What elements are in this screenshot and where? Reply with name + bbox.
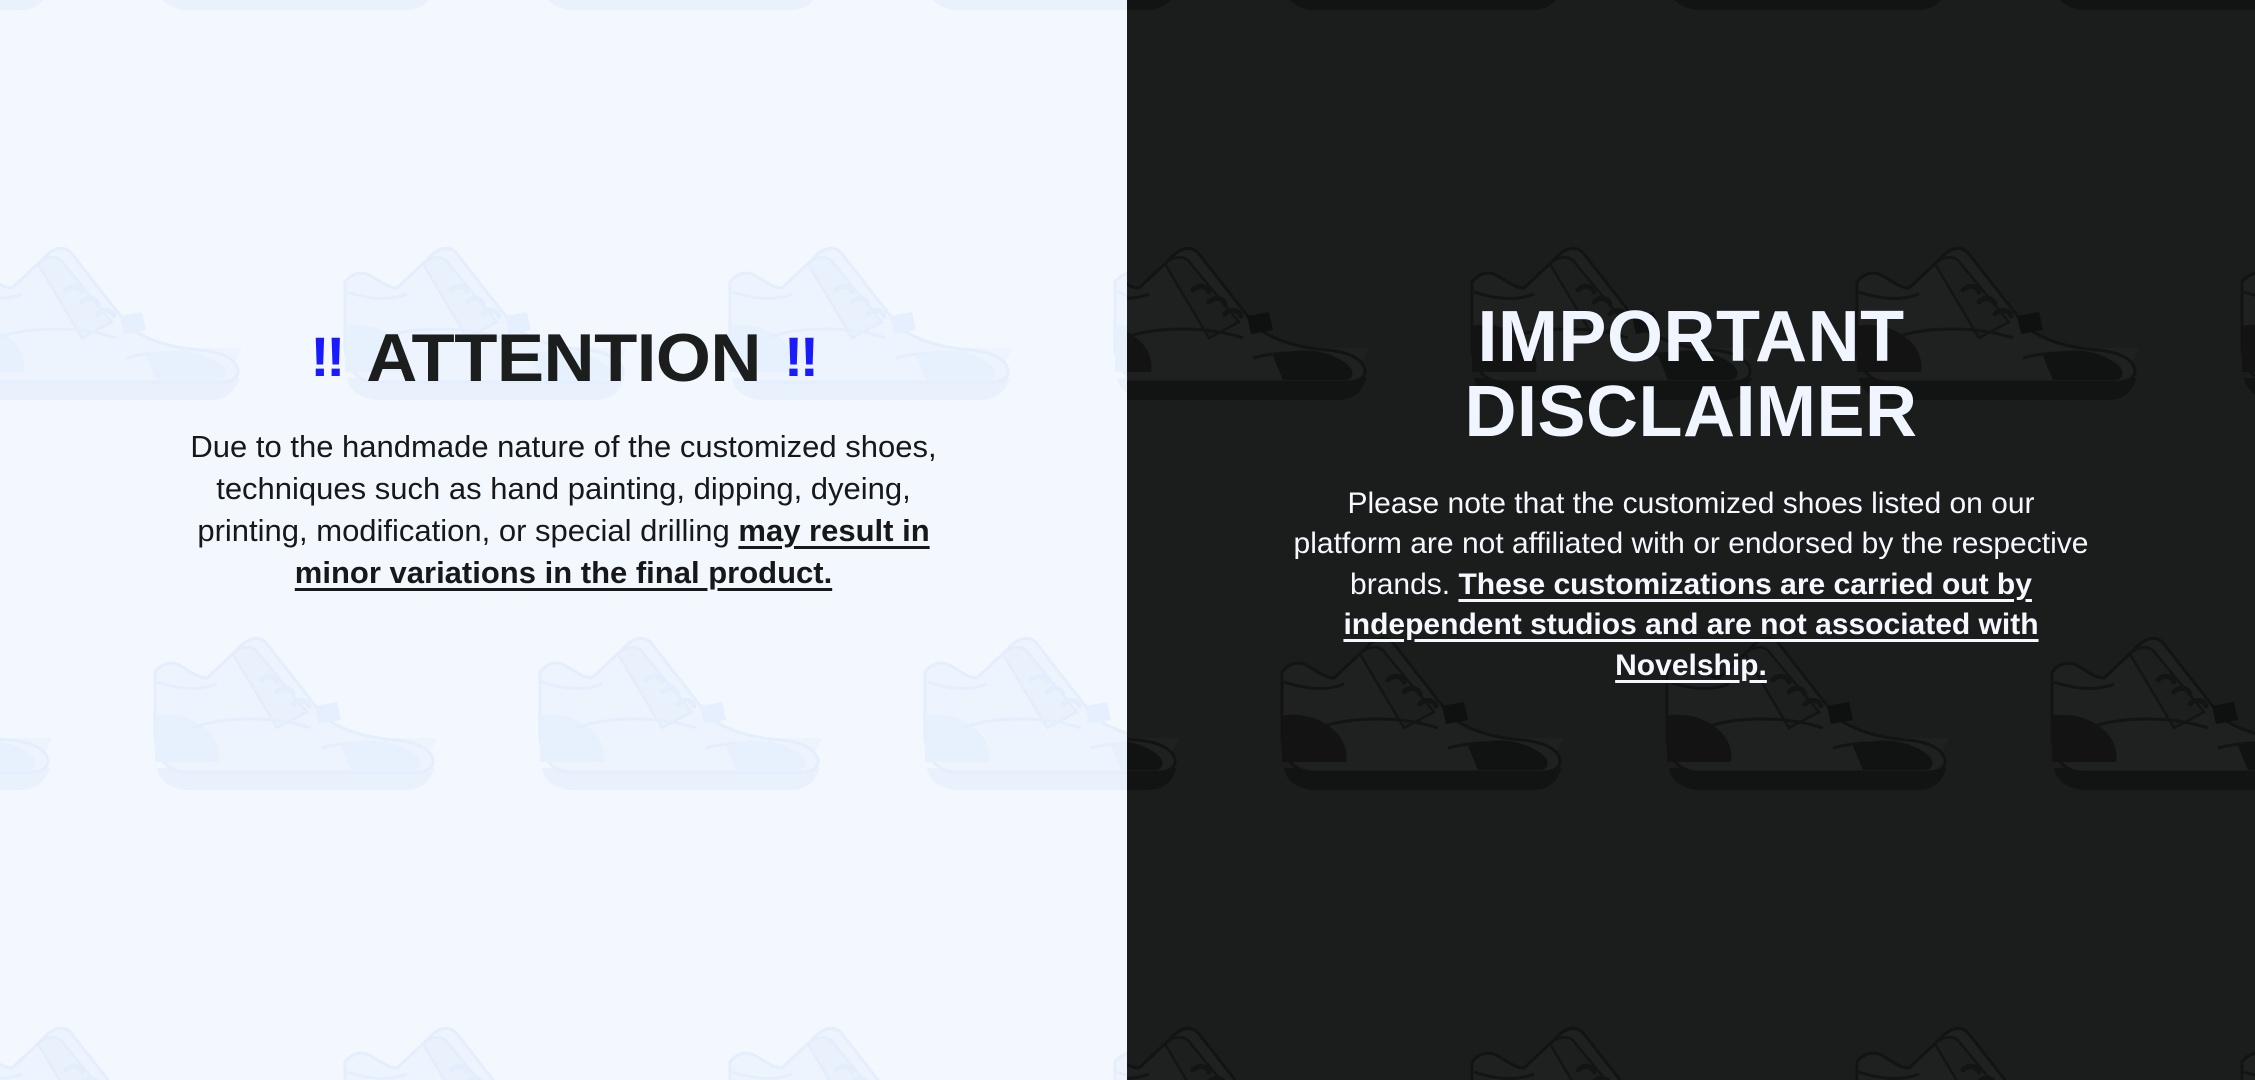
disclaimer-body: Please note that the customized shoes li…: [1291, 484, 2091, 687]
double-exclamation-left-icon: ‼: [310, 329, 343, 385]
attention-heading: ‼ATTENTION‼: [310, 324, 817, 392]
disclaimer-heading-line-1: IMPORTANT: [1477, 297, 1904, 377]
customization-notice-banner: ‼ATTENTION‼ Due to the handmade nature o…: [0, 0, 2255, 1080]
attention-panel: ‼ATTENTION‼ Due to the handmade nature o…: [0, 0, 1127, 1080]
attention-content: ‼ATTENTION‼ Due to the handmade nature o…: [0, 324, 1127, 593]
disclaimer-heading: IMPORTANTDISCLAIMER: [1371, 300, 2011, 450]
attention-heading-text: ATTENTION: [366, 320, 761, 396]
attention-body: Due to the handmade nature of the custom…: [169, 426, 959, 593]
disclaimer-heading-line-2: DISCLAIMER: [1465, 372, 1918, 452]
double-exclamation-right-icon: ‼: [784, 329, 817, 385]
disclaimer-content: IMPORTANTDISCLAIMER Please note that the…: [1127, 300, 2255, 686]
disclaimer-panel: IMPORTANTDISCLAIMER Please note that the…: [1127, 0, 2255, 1080]
